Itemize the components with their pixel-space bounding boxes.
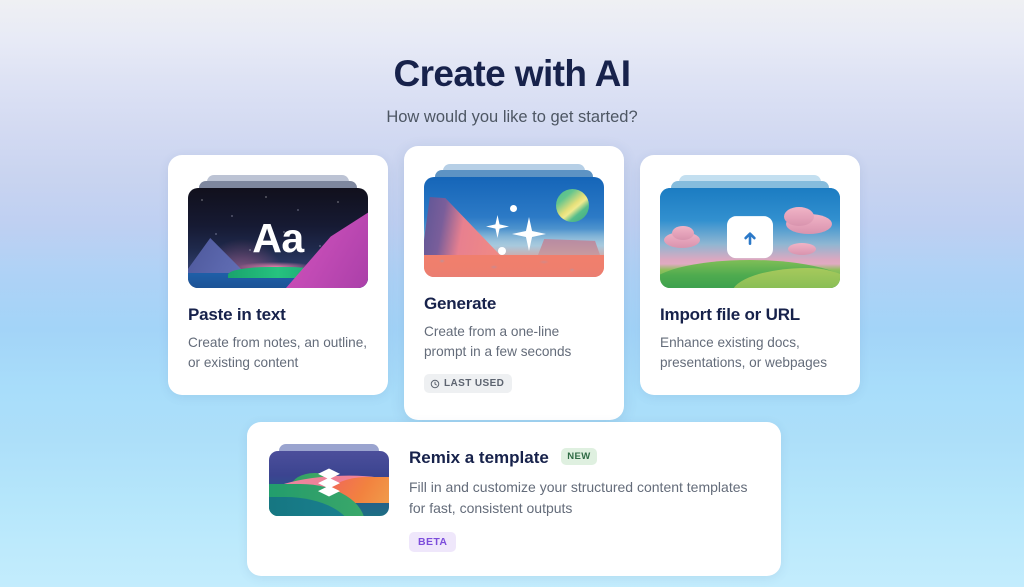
option-description: Enhance existing docs, presentations, or… (660, 333, 840, 373)
page-title: Create with AI (0, 52, 1024, 96)
page-subtitle: How would you like to get started? (0, 108, 1024, 127)
option-description: Create from notes, an outline, or existi… (188, 333, 368, 373)
sparkle-dot-bottom (498, 247, 506, 255)
cloud-shape (784, 207, 814, 226)
status-badge-last-used: LAST USED (424, 374, 512, 393)
generate-thumbnail (424, 164, 604, 277)
paste-in-text-thumbnail: Aa (188, 175, 368, 288)
clock-icon (430, 379, 440, 389)
remix-text-block: Remix a template NEW Fill in and customi… (409, 444, 757, 552)
sparkle-dot-top (510, 205, 517, 212)
ground-shape (424, 255, 604, 277)
folder-tile (727, 216, 773, 258)
option-description: Create from a one-line prompt in a few s… (424, 322, 604, 362)
remix-description: Fill in and customize your structured co… (409, 477, 757, 519)
folder-upload-icon (660, 188, 840, 288)
mesa-shape (538, 239, 600, 255)
planet-shape (556, 189, 589, 222)
remix-thumbnail (269, 444, 389, 516)
option-card-generate[interactable]: Generate Create from a one-line prompt i… (404, 146, 624, 420)
option-card-import-file-or-url[interactable]: Import file or URL Enhance existing docs… (640, 155, 860, 395)
status-badge-beta: BETA (409, 532, 456, 552)
import-thumbnail (660, 175, 840, 288)
create-with-ai-page: Create with AI How would you like to get… (0, 0, 1024, 587)
badge-label: LAST USED (444, 378, 504, 389)
text-aa-icon: Aa (188, 188, 368, 288)
remix-title: Remix a template (409, 448, 549, 468)
stacked-layers-icon (269, 451, 389, 516)
layers-glyph (312, 464, 346, 503)
remix-title-row: Remix a template NEW (409, 448, 757, 468)
cloud-shape (788, 243, 816, 255)
option-title: Import file or URL (660, 305, 840, 325)
cloud-shape (672, 226, 694, 240)
creation-options-row: Aa Paste in text Create from notes, an o… (168, 155, 860, 420)
page-header: Create with AI How would you like to get… (0, 0, 1024, 127)
option-title: Paste in text (188, 305, 368, 325)
option-card-remix-a-template[interactable]: Remix a template NEW Fill in and customi… (247, 422, 781, 576)
sparkles-icon (424, 177, 604, 277)
option-title: Generate (424, 294, 604, 314)
option-card-paste-in-text[interactable]: Aa Paste in text Create from notes, an o… (168, 155, 388, 395)
aa-label: Aa (188, 188, 368, 288)
status-badge-new: NEW (561, 448, 596, 465)
